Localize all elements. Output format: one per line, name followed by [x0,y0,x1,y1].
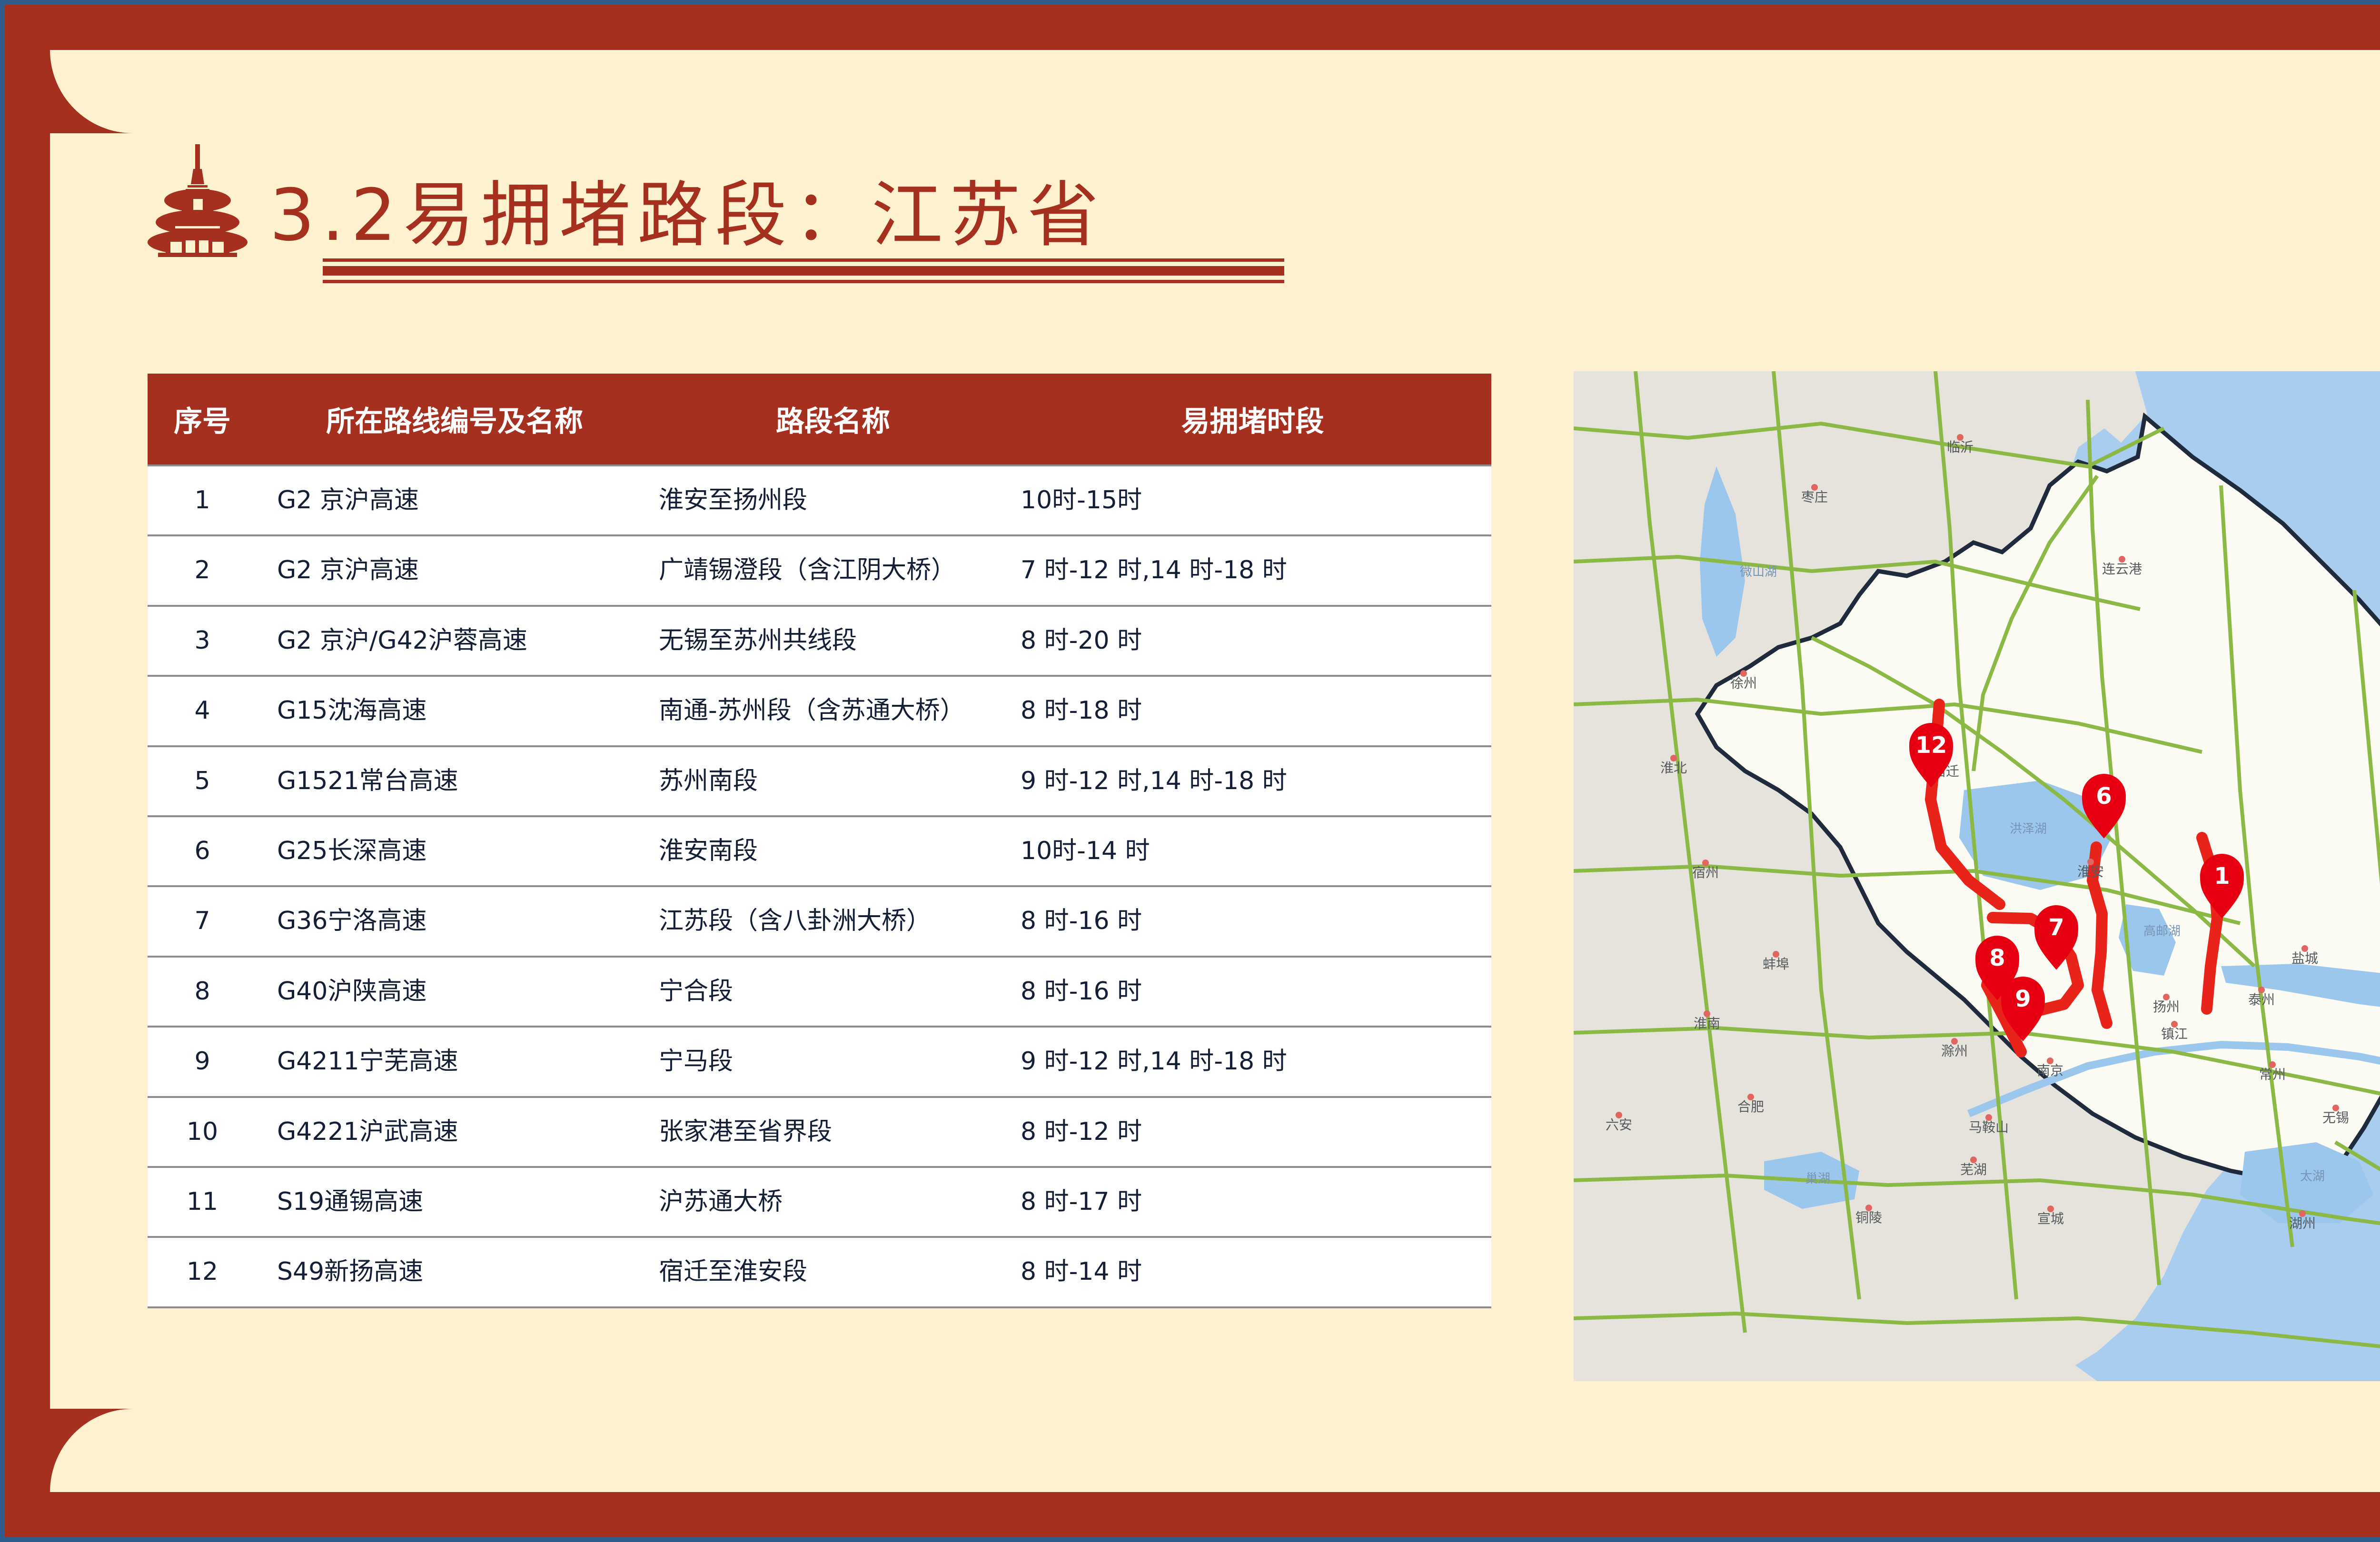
cell-no: 6 [148,816,257,886]
table-row: 11S19通锡高速沪苏通大桥8 时-17 时 [148,1167,1491,1237]
marker-label: 1 [2214,863,2230,890]
cell-segment: 张家港至省界段 [652,1097,1014,1167]
cell-segment: 江苏段（含八卦洲大桥） [652,886,1014,956]
city-label: 南京 [2037,1063,2063,1078]
cell-route: G2 京沪高速 [257,465,652,535]
cell-route: G36宁洛高速 [257,886,652,956]
marker-label: 8 [1989,945,2005,971]
cell-no: 5 [148,746,257,816]
temple-of-heaven-icon [148,140,248,257]
cell-route: S49新扬高速 [257,1237,652,1307]
corner-decoration-top-left [50,50,133,133]
city-label: 无锡 [2322,1110,2349,1126]
cell-route: G2 京沪/G42沪蓉高速 [257,606,652,676]
cell-route: G25长深高速 [257,816,652,886]
table-row: 1G2 京沪高速淮安至扬州段10时-15时 [148,465,1491,535]
cell-route: G4211宁芜高速 [257,1027,652,1097]
city-label: 铜陵 [1855,1210,1882,1226]
cell-time: 8 时-16 时 [1014,886,1491,956]
city-label: 枣庄 [1801,489,1828,505]
city-label: 宣城 [2037,1211,2064,1226]
cell-time: 8 时-17 时 [1014,1167,1491,1237]
table-header-time: 易拥堵时段 [1014,374,1491,465]
table-row: 5G1521常台高速苏州南段9 时-12 时,14 时-18 时 [148,746,1491,816]
water-label: 巢湖 [1805,1172,1830,1186]
water-label: 微山湖 [1740,565,1777,579]
cell-no: 9 [148,1027,257,1097]
cell-time: 8 时-18 时 [1014,676,1491,746]
cell-no: 4 [148,676,257,746]
jiangsu-congestion-map[interactable]: 临沂枣庄连云港徐州淮北宿州宿迁淮安盐城蚌埠淮南滁州扬州泰州南京镇江南通合肥常州无… [1574,371,2380,1381]
table-head: 序号 所在路线编号及名称 路段名称 易拥堵时段 [148,374,1491,465]
cell-no: 3 [148,606,257,676]
cell-no: 10 [148,1097,257,1167]
cell-time: 8 时-14 时 [1014,1237,1491,1307]
cell-no: 8 [148,957,257,1027]
table-row: 2G2 京沪高速广靖锡澄段（含江阴大桥）7 时-12 时,14 时-18 时 [148,535,1491,605]
city-label: 扬州 [2153,999,2180,1015]
city-label: 淮北 [1660,760,1687,776]
cell-no: 12 [148,1237,257,1307]
page-title-row: 3.2易拥堵路段：江苏省 [148,140,1106,257]
city-label: 蚌埠 [1763,956,1789,972]
title-underline [323,258,1284,283]
table-row: 7G36宁洛高速江苏段（含八卦洲大桥）8 时-16 时 [148,886,1491,956]
city-label: 徐州 [1730,675,1757,691]
cell-segment: 宁合段 [652,957,1014,1027]
cell-segment: 宿迁至淮安段 [652,1237,1014,1307]
city-label: 淮安 [2077,864,2104,880]
slide-frame: 3.2易拥堵路段：江苏省 序号 所在路线编号及名称 路段名称 易拥堵时段 1G2… [0,0,2380,1542]
cell-segment: 淮安至扬州段 [652,465,1014,535]
cell-segment: 广靖锡澄段（含江阴大桥） [652,535,1014,605]
city-label: 六安 [1606,1117,1632,1133]
corner-decoration-bottom-left [50,1409,133,1492]
marker-label: 6 [2096,783,2112,810]
cell-no: 7 [148,886,257,956]
city-label: 常州 [2259,1067,2286,1082]
table-row: 9G4211宁芜高速宁马段9 时-12 时,14 时-18 时 [148,1027,1491,1097]
marker-label: 7 [2048,914,2064,941]
table-row: 10G4221沪武高速张家港至省界段8 时-12 时 [148,1097,1491,1167]
water-label: 洪泽湖 [2010,822,2047,836]
cell-route: S19通锡高速 [257,1167,652,1237]
city-label: 镇江 [2161,1026,2188,1042]
cell-time: 10时-15时 [1014,465,1491,535]
cell-segment: 南通-苏州段（含苏通大桥） [652,676,1014,746]
cell-segment: 无锡至苏州共线段 [652,606,1014,676]
cell-time: 8 时-12 时 [1014,1097,1491,1167]
city-label: 临沂 [1947,439,1973,455]
city-label: 泰州 [2248,992,2275,1008]
congestion-table: 序号 所在路线编号及名称 路段名称 易拥堵时段 1G2 京沪高速淮安至扬州段10… [148,374,1491,1308]
city-label: 合肥 [1737,1099,1764,1115]
cell-segment: 淮安南段 [652,816,1014,886]
table-header-row: 序号 所在路线编号及名称 路段名称 易拥堵时段 [148,374,1491,465]
table-body: 1G2 京沪高速淮安至扬州段10时-15时2G2 京沪高速广靖锡澄段（含江阴大桥… [148,465,1491,1307]
table-header-no: 序号 [148,374,257,465]
city-label: 盐城 [2291,950,2318,966]
city-label: 连云港 [2102,561,2142,577]
marker-label: 12 [1915,732,1947,759]
cell-time: 10时-14 时 [1014,816,1491,886]
cell-segment: 宁马段 [652,1027,1014,1097]
table-row: 8G40沪陕高速宁合段8 时-16 时 [148,957,1491,1027]
cell-time: 8 时-20 时 [1014,606,1491,676]
cell-no: 1 [148,465,257,535]
cell-route: G1521常台高速 [257,746,652,816]
cell-time: 7 时-12 时,14 时-18 时 [1014,535,1491,605]
city-label: 宿州 [1692,865,1719,880]
table-row: 6G25长深高速淮安南段10时-14 时 [148,816,1491,886]
congestion-table-wrap: 序号 所在路线编号及名称 路段名称 易拥堵时段 1G2 京沪高速淮安至扬州段10… [148,374,1491,1308]
cell-route: G40沪陕高速 [257,957,652,1027]
page-title: 3.2易拥堵路段：江苏省 [269,180,1106,251]
cell-time: 9 时-12 时,14 时-18 时 [1014,746,1491,816]
table-row: 3G2 京沪/G42沪蓉高速无锡至苏州共线段8 时-20 时 [148,606,1491,676]
marker-label: 9 [2015,986,2031,1012]
city-label: 马鞍山 [1969,1119,2009,1135]
water-label: 高邮湖 [2143,924,2181,939]
city-label: 滁州 [1941,1043,1968,1059]
table-row: 12S49新扬高速宿迁至淮安段8 时-14 时 [148,1237,1491,1307]
cell-time: 8 时-16 时 [1014,957,1491,1027]
cell-no: 2 [148,535,257,605]
table-header-segment: 路段名称 [652,374,1014,465]
table-row: 4G15沈海高速南通-苏州段（含苏通大桥）8 时-18 时 [148,676,1491,746]
city-label: 芜湖 [1960,1162,1987,1177]
city-label: 湖州 [2289,1216,2316,1231]
cell-time: 9 时-12 时,14 时-18 时 [1014,1027,1491,1097]
cell-route: G2 京沪高速 [257,535,652,605]
cell-route: G4221沪武高速 [257,1097,652,1167]
water-label: 太湖 [2300,1169,2325,1184]
cell-no: 11 [148,1167,257,1237]
table-header-route: 所在路线编号及名称 [257,374,652,465]
cell-segment: 沪苏通大桥 [652,1167,1014,1237]
city-label: 淮南 [1694,1016,1720,1031]
cell-segment: 苏州南段 [652,746,1014,816]
cell-route: G15沈海高速 [257,676,652,746]
